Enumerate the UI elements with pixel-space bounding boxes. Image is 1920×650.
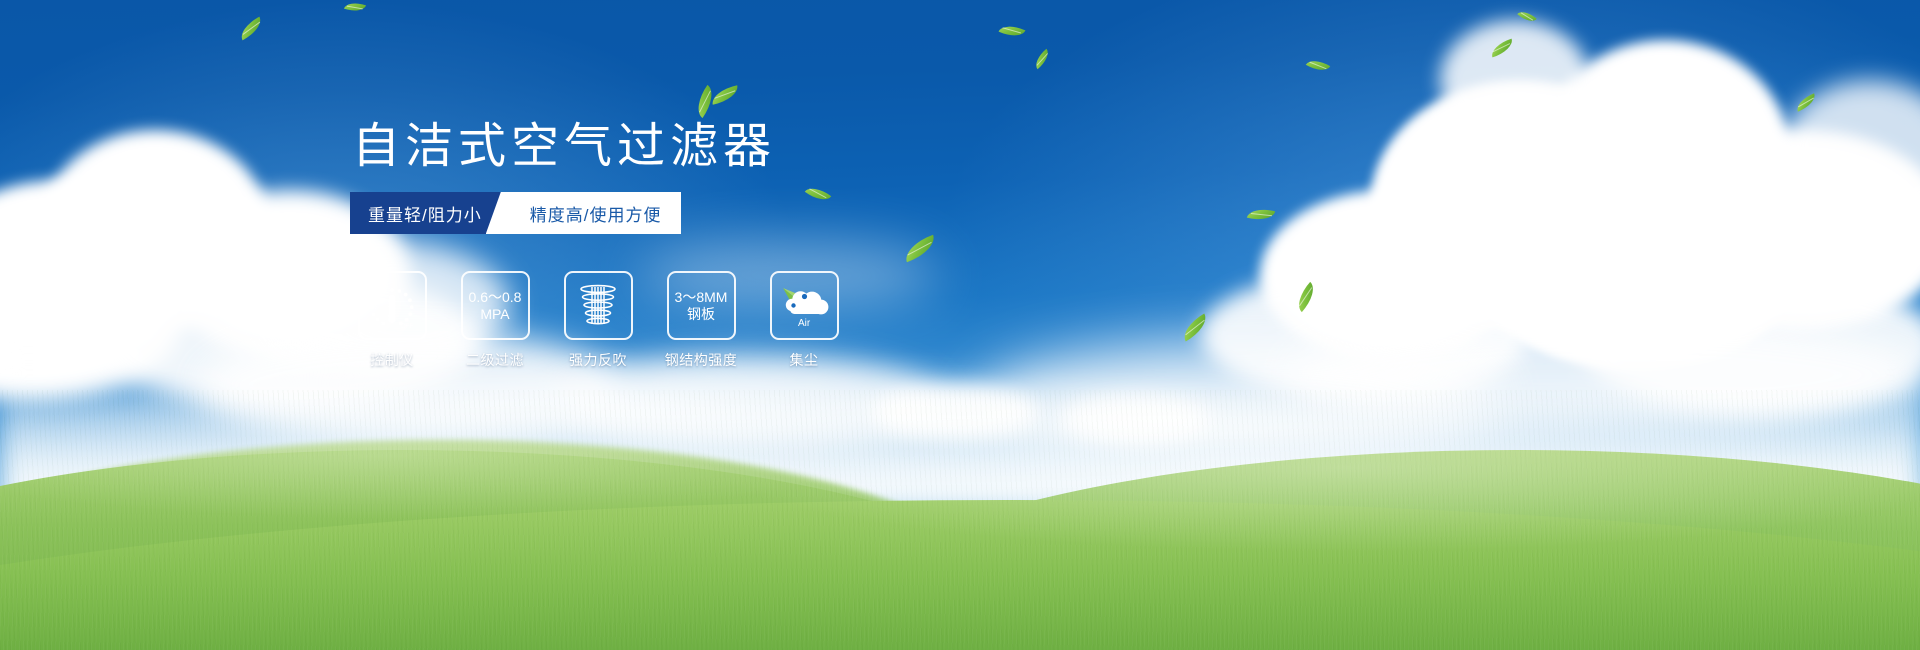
feature-item-control[interactable]: NO OFF 控制仪 — [356, 271, 428, 370]
pressure-text-icon: 0.6～0.8 MPA — [461, 271, 530, 340]
product-hero-banner: 自洁式空气过滤器 重量轻/阻力小 精度高/使用方便 — [0, 0, 1920, 650]
feature-item-steel[interactable]: 3～8MM 钢板 钢结构强度 — [665, 271, 737, 370]
backblow-airflow-icon — [564, 271, 633, 340]
backblow-glyph — [572, 281, 624, 331]
steel-material: 钢板 — [687, 306, 715, 323]
page-title: 自洁式空气过滤器 — [352, 118, 772, 174]
tab-precision-wrap: 精度高/使用方便 — [504, 192, 682, 234]
feature-label-filter: 二级过滤 — [466, 350, 524, 370]
feature-item-backblow[interactable]: 强力反吹 — [562, 271, 634, 370]
feature-icon-row: NO OFF 控制仪 0.6～0.8 MPA 二级过滤 — [356, 271, 840, 370]
steel-plate-text-icon: 3～8MM 钢板 — [667, 271, 736, 340]
tab-lightweight[interactable]: 重量轻/阻力小 — [350, 192, 504, 234]
feature-label-dust: 集尘 — [790, 350, 819, 370]
feature-item-dust[interactable]: Air 集尘 — [768, 271, 840, 370]
dust-cloud-icon: Air — [770, 271, 839, 340]
pressure-unit: MPA — [480, 306, 509, 323]
banner-content: 自洁式空气过滤器 重量轻/阻力小 精度高/使用方便 — [0, 0, 1920, 650]
control-dial-icon: NO OFF — [358, 271, 427, 340]
feature-label-control: 控制仪 — [370, 350, 414, 370]
svg-text:OFF: OFF — [401, 324, 413, 330]
feature-item-filter[interactable]: 0.6～0.8 MPA 二级过滤 — [459, 271, 531, 370]
pressure-value: 0.6～0.8 — [469, 289, 522, 306]
dust-air-label: Air — [798, 318, 811, 329]
control-dial-glyph: NO OFF — [364, 281, 420, 331]
steel-thickness: 3～8MM — [675, 289, 728, 306]
svg-text:NO: NO — [367, 304, 377, 311]
dust-cloud-glyph: Air — [776, 281, 832, 331]
tab-precision[interactable]: 精度高/使用方便 — [504, 192, 682, 234]
feature-label-backblow: 强力反吹 — [569, 350, 627, 370]
feature-tab-group: 重量轻/阻力小 精度高/使用方便 — [350, 192, 681, 234]
feature-label-steel: 钢结构强度 — [665, 350, 738, 370]
